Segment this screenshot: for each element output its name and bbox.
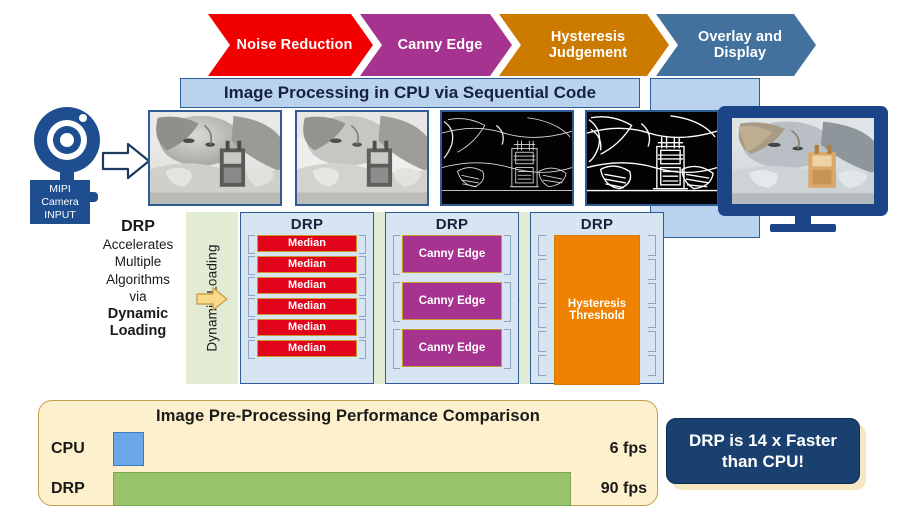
slot-bracket-left-icon: [538, 235, 546, 256]
drp-slot: Canny Edge: [393, 329, 511, 369]
callout-line2: than CPU!: [689, 451, 837, 472]
canny-edge-tile[interactable]: Canny Edge: [402, 282, 502, 320]
speedup-callout: DRP is 14 x Faster than CPU!: [666, 418, 860, 484]
performance-comparison-panel: Image Pre-Processing Performance Compari…: [38, 400, 658, 506]
chart-category-label: CPU: [51, 440, 113, 458]
chart-value-label: 90 fps: [571, 480, 657, 498]
drp-desc-line6: Dynamic: [78, 306, 198, 324]
drp-description: DRP Accelerates Multiple Algorithms via …: [78, 218, 198, 341]
slot-bracket-left-icon: [393, 329, 400, 369]
slot-bracket-right-icon: [359, 277, 366, 296]
pipeline-step-label: Noise Reduction: [219, 37, 363, 53]
drp-desc-line5: via: [78, 288, 198, 306]
processing-pipeline: Noise Reduction Canny Edge Hysteresis Ju…: [208, 14, 816, 76]
slot-bracket-right-icon: [648, 283, 656, 304]
drp-slot: Median: [248, 256, 366, 275]
drp-desc-line4: Algorithms: [78, 271, 198, 289]
pipeline-step-label: Canny Edge: [380, 37, 493, 53]
slot-bracket-left-icon: [538, 283, 546, 304]
display-monitor: [718, 106, 888, 232]
chart-value-label: 6 fps: [571, 440, 657, 458]
slot-bracket-left-icon: [393, 235, 400, 275]
callout-line1: DRP is 14 x Faster: [689, 430, 837, 451]
slot-bracket-left-icon: [538, 355, 546, 376]
median-tile[interactable]: Median: [257, 319, 357, 336]
camera-label-line3: INPUT: [30, 209, 90, 222]
monitor-screen: [732, 118, 874, 204]
drp-slot: Median: [248, 340, 366, 359]
slot-bracket-right-icon: [359, 298, 366, 317]
slot-bracket-left-icon: [248, 256, 255, 275]
camera-label-line2: Camera: [30, 196, 90, 209]
drp-desc-line3: Multiple: [78, 253, 198, 271]
slot-bracket-left-icon: [248, 277, 255, 296]
arrow-right-icon: [100, 140, 152, 182]
slot-bracket-left-icon: [538, 259, 546, 280]
frame-noise-reduced-grayscale: [295, 110, 429, 206]
pipeline-step-canny-edge[interactable]: Canny Edge: [360, 14, 512, 76]
slot-bracket-left-icon: [538, 331, 546, 352]
frame-original-grayscale: [148, 110, 282, 206]
slot-bracket-right-icon: [504, 282, 511, 322]
drp-slot: Median: [248, 298, 366, 317]
chart-track: [113, 432, 571, 466]
chart-row-cpu: CPU 6 fps: [39, 432, 657, 466]
dynamic-loading-strip-1: Dynamic Loading: [186, 212, 238, 384]
cpu-band-title: Image Processing in CPU via Sequential C…: [224, 83, 596, 103]
canny-edge-tile[interactable]: Canny Edge: [402, 235, 502, 273]
median-tile[interactable]: Median: [257, 256, 357, 273]
drp-slot: Hysteresis Threshold: [538, 235, 656, 387]
slot-bracket-right-icon: [648, 259, 656, 280]
median-tile[interactable]: Median: [257, 277, 357, 294]
cpu-sequential-band: Image Processing in CPU via Sequential C…: [180, 78, 640, 108]
drp-block-title: DRP: [531, 213, 663, 233]
drp-desc-line2: Accelerates: [78, 236, 198, 254]
pipeline-step-hysteresis-judgement[interactable]: Hysteresis Judgement: [499, 14, 669, 76]
frame-canny-edges: [440, 110, 574, 206]
median-tile[interactable]: Median: [257, 235, 357, 252]
slot-bracket-right-icon: [648, 355, 656, 376]
chart-bar-drp: [113, 472, 571, 506]
slot-bracket-right-icon: [359, 319, 366, 338]
pipeline-step-label: Overlay and Display: [656, 29, 816, 61]
slot-bracket-left-icon: [248, 235, 255, 254]
slot-bracket-right-icon: [359, 340, 366, 359]
chart-bar-cpu: [113, 432, 144, 466]
pipeline-step-label: Hysteresis Judgement: [499, 29, 669, 61]
pipeline-step-noise-reduction[interactable]: Noise Reduction: [208, 14, 373, 76]
drp-block-hysteresis: DRP Hysteresis Threshold: [530, 212, 664, 384]
drp-block-title: DRP: [241, 213, 373, 233]
slot-bracket-right-icon: [648, 235, 656, 256]
performance-chart-title: Image Pre-Processing Performance Compari…: [39, 401, 657, 426]
median-tile[interactable]: Median: [257, 298, 357, 315]
camera-input-label: MIPI Camera INPUT: [30, 180, 90, 224]
slot-bracket-right-icon: [504, 235, 511, 275]
drp-slot: Median: [248, 319, 366, 338]
arrow-right-icon: [195, 286, 229, 312]
slot-bracket-left-icon: [538, 307, 546, 328]
slot-bracket-right-icon: [359, 235, 366, 254]
drp-slot: Canny Edge: [393, 282, 511, 322]
slot-bracket-group: [538, 235, 656, 387]
frame-hysteresis-edges: [585, 110, 719, 206]
drp-block-canny-edge: DRP Canny Edge Canny Edge Canny Edge: [385, 212, 519, 384]
slot-bracket-right-icon: [648, 307, 656, 328]
canny-edge-tile[interactable]: Canny Edge: [402, 329, 502, 367]
slot-bracket-left-icon: [248, 340, 255, 359]
drp-desc-line7: Loading: [78, 323, 198, 341]
chart-row-drp: DRP 90 fps: [39, 472, 657, 506]
slot-bracket-left-icon: [248, 298, 255, 317]
slot-bracket-left-icon: [248, 319, 255, 338]
chart-category-label: DRP: [51, 480, 113, 498]
median-tile[interactable]: Median: [257, 340, 357, 357]
drp-desc-line1: DRP: [78, 218, 198, 236]
drp-slot: Canny Edge: [393, 235, 511, 275]
drp-slot: Median: [248, 277, 366, 296]
chart-track: [113, 472, 571, 506]
drp-block-median: DRP Median Median Median Median Median: [240, 212, 374, 384]
slot-bracket-right-icon: [504, 329, 511, 369]
slot-bracket-left-icon: [393, 282, 400, 322]
drp-slot: Median: [248, 235, 366, 254]
pipeline-step-overlay-display[interactable]: Overlay and Display: [656, 14, 816, 76]
slot-bracket-right-icon: [359, 256, 366, 275]
drp-block-title: DRP: [386, 213, 518, 233]
camera-label-line1: MIPI: [30, 183, 90, 196]
slot-bracket-right-icon: [648, 331, 656, 352]
monitor-base: [770, 224, 836, 232]
